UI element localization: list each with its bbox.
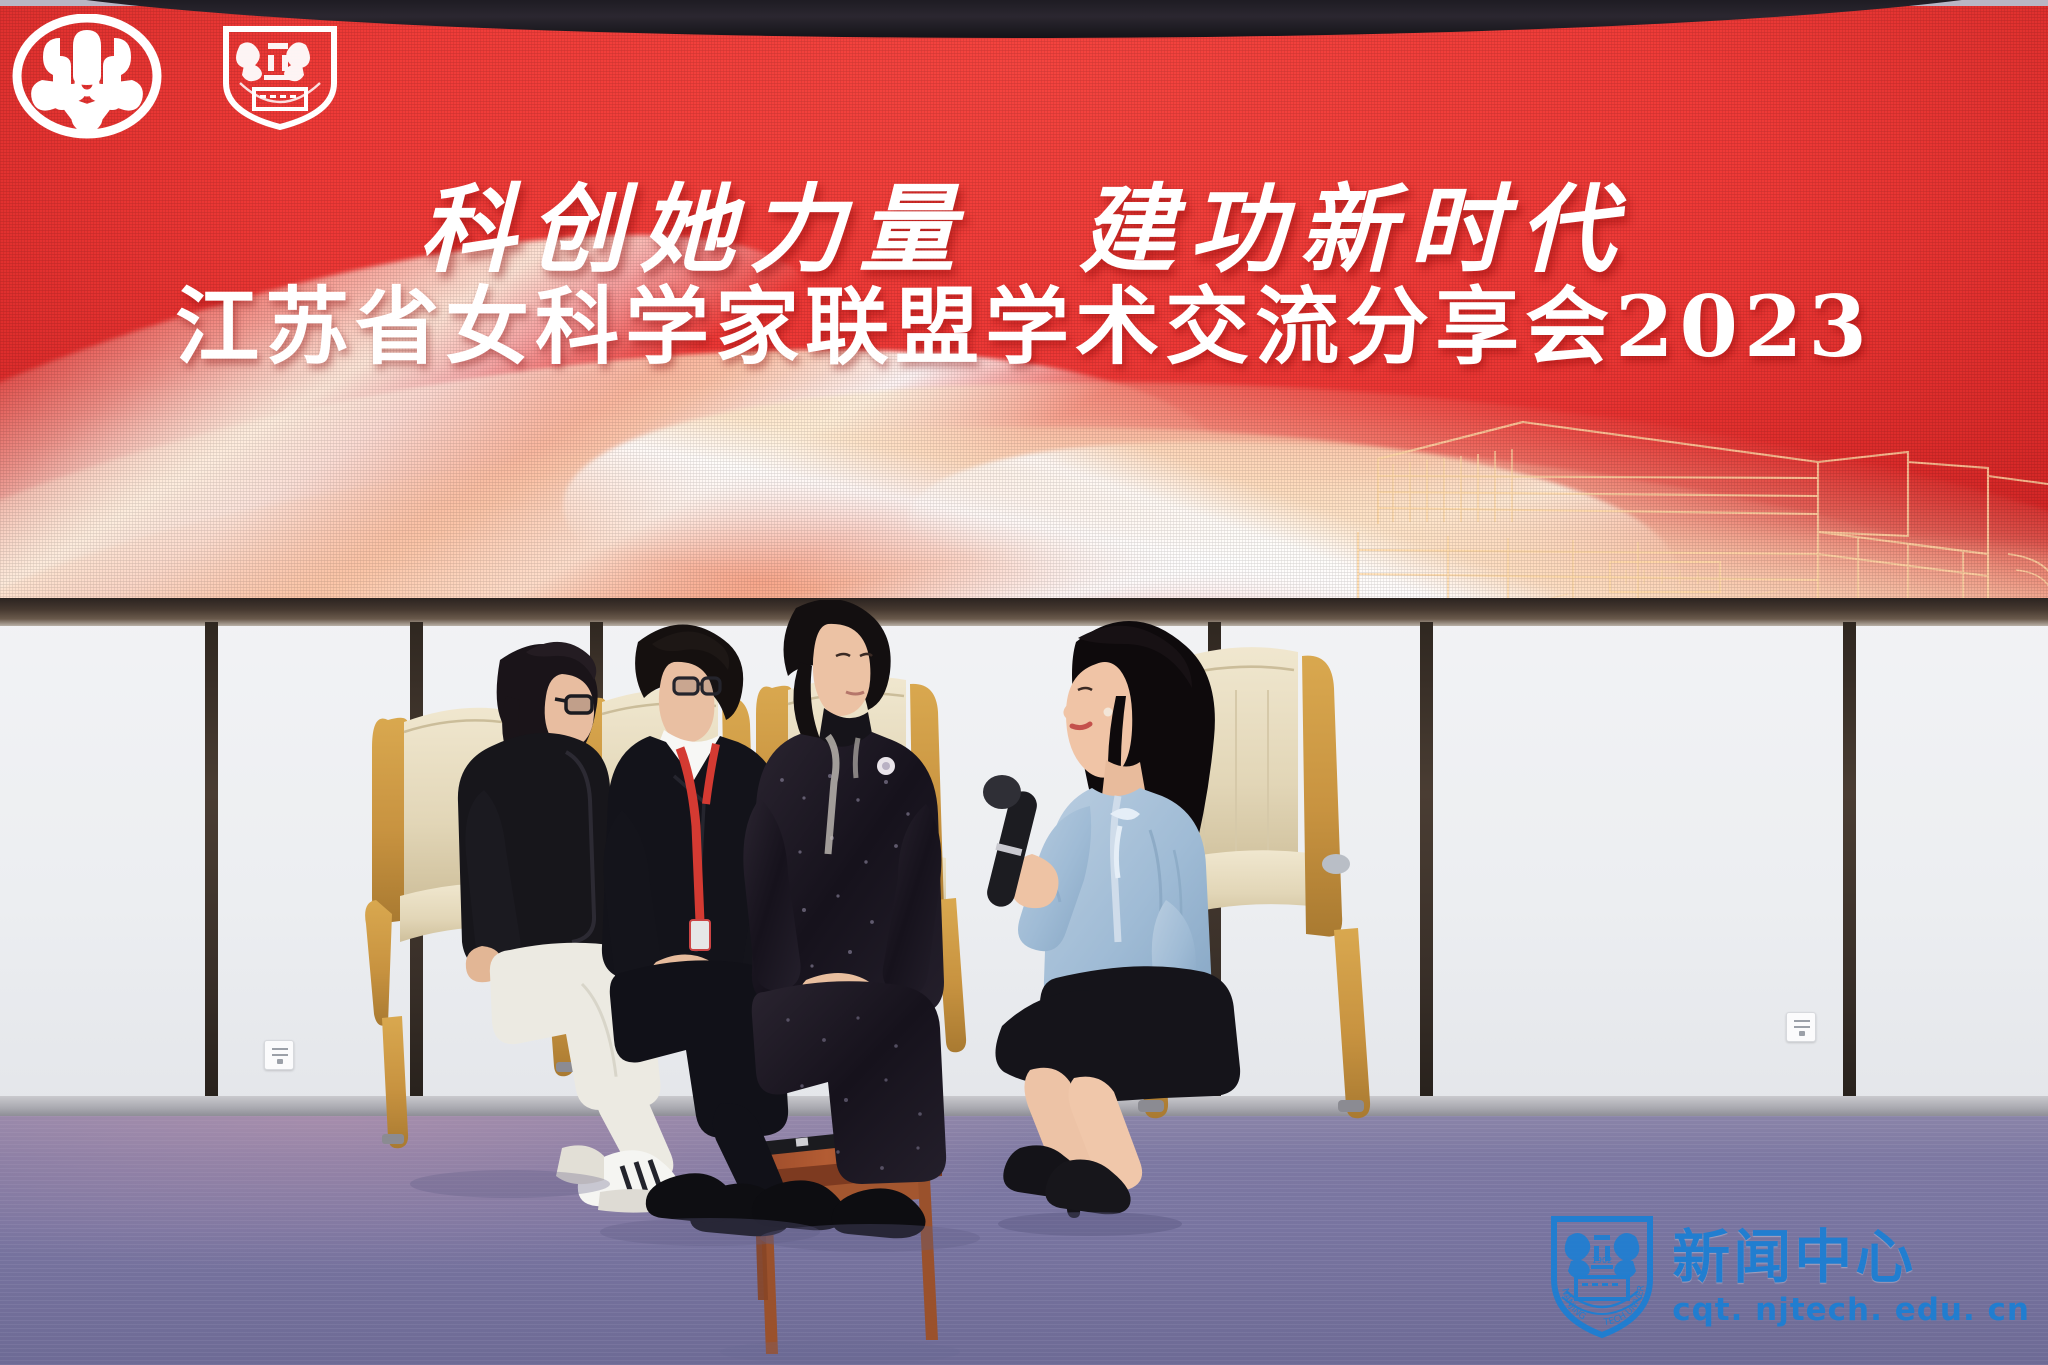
power-outlet: [1786, 1012, 1816, 1042]
wall-panel-divider: [205, 622, 218, 1112]
eyeglasses: [674, 678, 720, 694]
watermark-org-name: 新闻中心: [1672, 1228, 2030, 1286]
cast-plum-blossom-logo: [12, 14, 162, 139]
power-outlet: [264, 1040, 294, 1070]
njtech-shield-logo: [210, 21, 350, 133]
stage-scene-group: [330, 600, 1730, 1365]
njtech-watermark-shield-icon: 1902 NANJING TECH UNIVERSITY: [1546, 1213, 1658, 1341]
watermark-url: cqt. njtech. edu. cn: [1672, 1295, 2030, 1326]
news-center-watermark: 1902 NANJING TECH UNIVERSITY 新闻中心 cqt. n…: [1546, 1213, 2030, 1341]
event-photo-scene: 科创她力量 建功新时代 江苏省女科学家联盟学术交流分享会2023: [0, 0, 2048, 1365]
backdrop-subtitle: 江苏省女科学家联盟学术交流分享会2023: [0, 260, 2048, 381]
svg-text:1902: 1902: [1592, 1256, 1612, 1265]
moderator: [983, 621, 1240, 1236]
backdrop-logo-row: [12, 14, 350, 139]
wall-panel-divider: [1843, 622, 1856, 1112]
earring: [1104, 708, 1113, 717]
